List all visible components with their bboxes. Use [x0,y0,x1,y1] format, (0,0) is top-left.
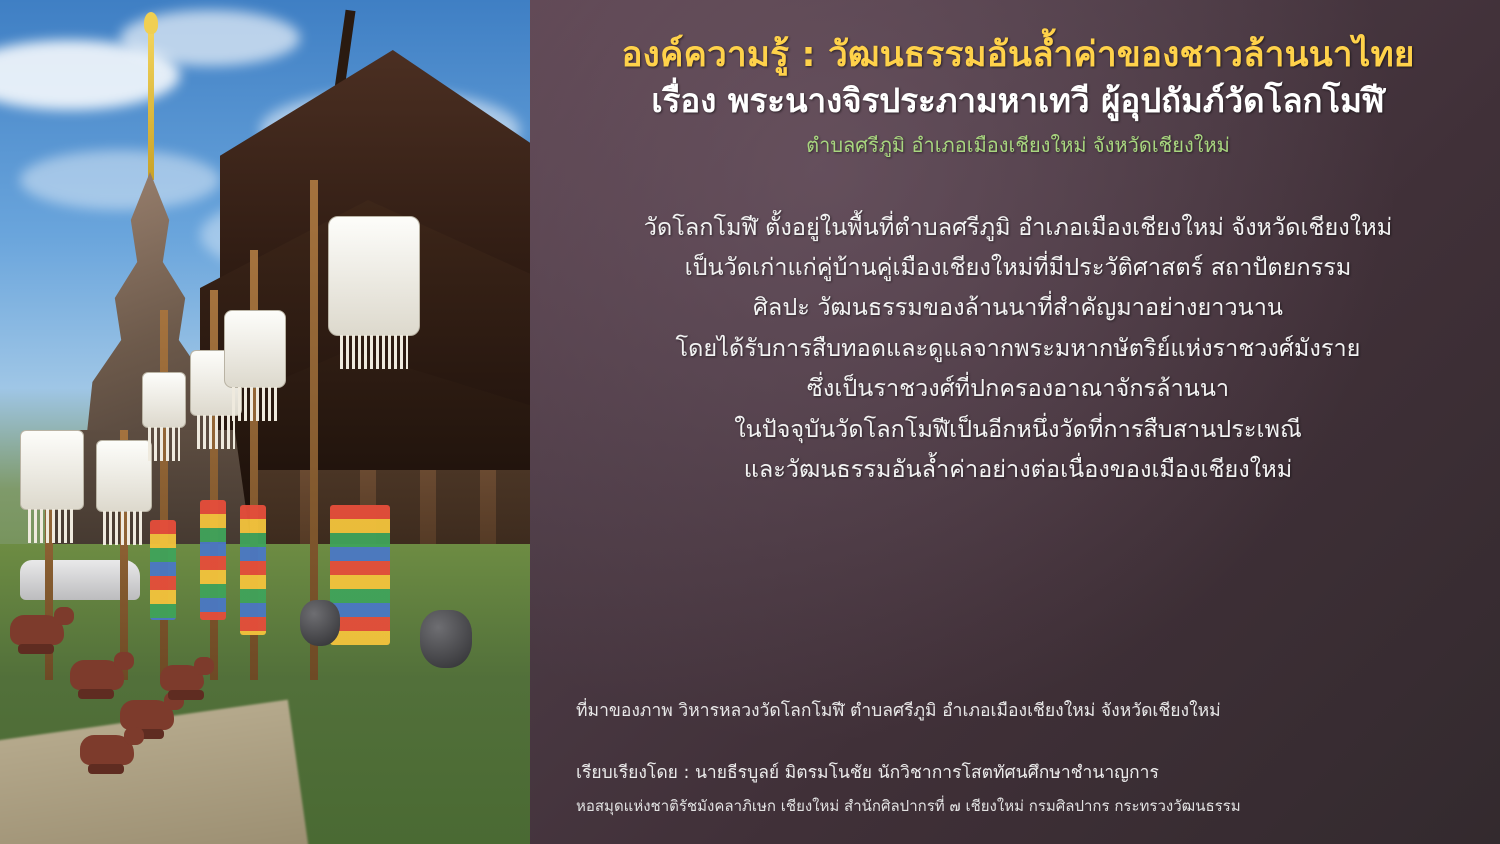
chedi-spire [148,30,154,180]
title-block: องค์ความรู้ : วัฒนธรรมอันล้ำค่าของชาวล้า… [576,34,1460,161]
decorative-urn [300,600,340,646]
body-line: และวัฒนธรรมอันล้ำค่าอย่างต่อเนื่องของเมื… [576,449,1460,489]
footer-block: ที่มาของภาพ วิหารหลวงวัดโลกโมฬี ตำบลศรีภ… [576,696,1460,818]
body-line: ในปัจจุบันวัดโลกโมฬีเป็นอีกหนึ่งวัดที่กา… [576,409,1460,449]
cloud-icon [20,150,220,210]
lantern-pole [160,310,168,680]
poster-page: องค์ความรู้ : วัฒนธรรมอันล้ำค่าของชาวล้า… [0,0,1500,844]
content-panel: องค์ความรู้ : วัฒนธรรมอันล้ำค่าของชาวล้า… [530,0,1500,844]
cow-statue [120,700,174,730]
body-line: เป็นวัดเก่าแก่คู่บ้านคู่เมืองเชียงใหม่ที… [576,247,1460,287]
lantern-pole [210,290,218,680]
image-source-credit: ที่มาของภาพ วิหารหลวงวัดโลกโมฬี ตำบลศรีภ… [576,696,1460,724]
page-subtitle: ตำบลศรีภูมิ อำเภอเมืองเชียงใหม่ จังหวัดเ… [576,129,1460,161]
lanna-lantern [142,372,186,428]
colored-banner [240,505,266,635]
lanna-lantern [20,430,84,510]
cow-statue [160,665,204,691]
decorative-urn [420,610,472,668]
page-title-line1: องค์ความรู้ : วัฒนธรรมอันล้ำค่าของชาวล้า… [576,34,1460,78]
cow-statue [70,660,124,690]
cow-statue [10,615,64,645]
page-title-line2: เรื่อง พระนางจิรประภามหาเทวี ผู้อุปถัมภ์… [576,80,1460,123]
lanna-lantern [224,310,286,388]
body-line: ศิลปะ วัฒนธรรมของล้านนาที่สำคัญมาอย่างยา… [576,287,1460,327]
cow-statue [80,735,134,765]
body-line: โดยได้รับการสืบทอดและดูแลจากพระมหากษัตริ… [576,328,1460,368]
colored-banner [200,500,226,620]
lanna-lantern-large [328,216,420,336]
body-text: วัดโลกโมฬี ตั้งอยู่ในพื้นที่ตำบลศรีภูมิ … [576,207,1460,490]
temple-photo [0,0,530,844]
lanna-lantern [96,440,152,512]
organization-credit: หอสมุดแห่งชาติรัชมังคลาภิเษก เชียงใหม่ ส… [576,794,1460,818]
body-line: ซึ่งเป็นราชวงศ์ที่ปกครองอาณาจักรล้านนา [576,368,1460,408]
author-credit: เรียบเรียงโดย : นายธีรบูลย์ มิตรมโนชัย น… [576,758,1460,786]
colored-banner [150,520,176,620]
body-line: วัดโลกโมฬี ตั้งอยู่ในพื้นที่ตำบลศรีภูมิ … [576,207,1460,247]
